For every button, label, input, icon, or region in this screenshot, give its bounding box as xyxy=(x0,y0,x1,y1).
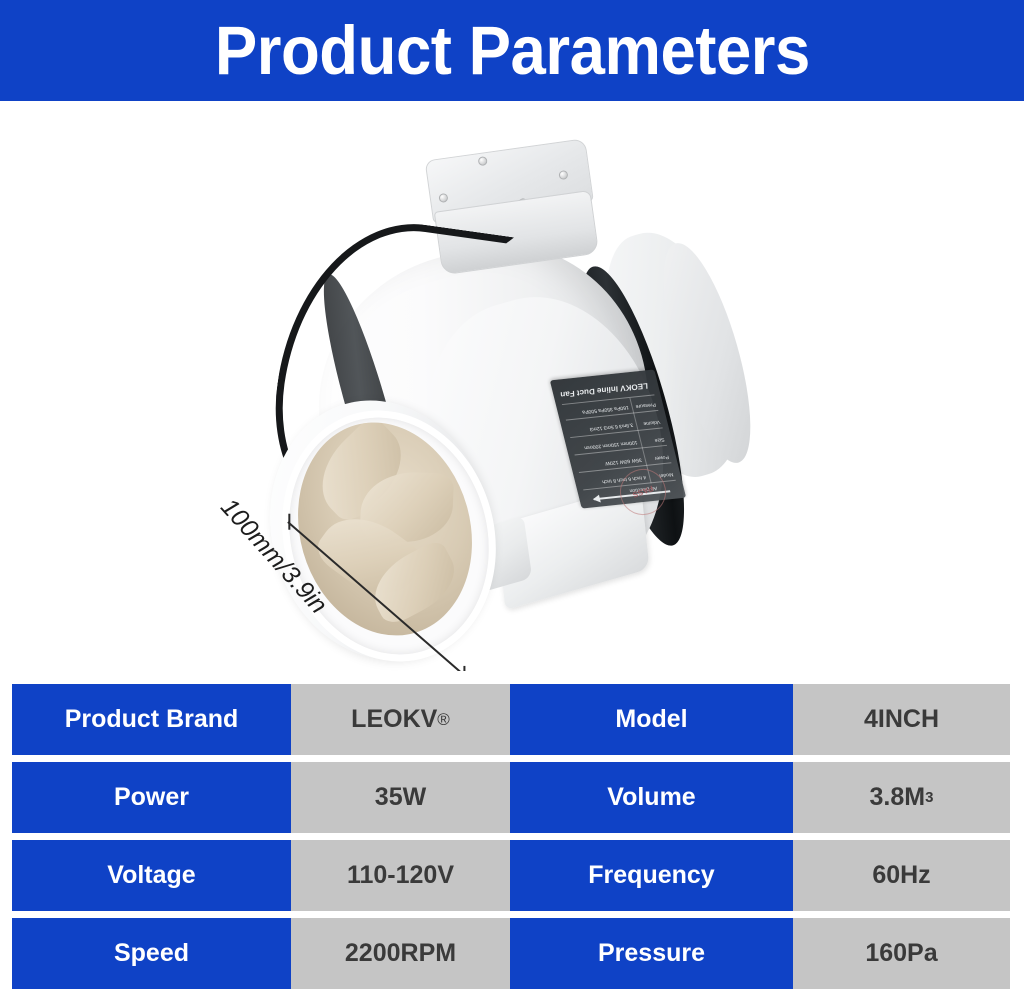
junction-box-screw xyxy=(478,156,488,166)
sticker-row-key: Pressure xyxy=(635,401,657,409)
page-title: Product Parameters xyxy=(214,16,809,85)
spec-label-product-brand: Product Brand xyxy=(12,684,291,755)
table-row: Product Brand LEOKV® Model 4INCH xyxy=(12,684,1010,755)
table-row: Speed 2200RPM Pressure 160Pa xyxy=(12,918,1010,989)
product-photo-area: Air Direction Model 4 Inch 6 Inch 8 Inch… xyxy=(0,101,1024,671)
spec-label-volume: Volume xyxy=(510,762,793,833)
table-row: Voltage 110-120V Frequency 60Hz xyxy=(12,840,1010,911)
table-row: Power 35W Volume 3.8M3 xyxy=(12,762,1010,833)
sticker-row-key: Power xyxy=(654,454,670,461)
spec-value-voltage: 110-120V xyxy=(291,840,510,911)
spec-label-frequency: Frequency xyxy=(510,840,793,911)
spec-value-volume: 3.8M3 xyxy=(793,762,1010,833)
spec-value-speed: 2200RPM xyxy=(291,918,510,989)
spec-label-power: Power xyxy=(12,762,291,833)
spec-label-voltage: Voltage xyxy=(12,840,291,911)
spec-value-frequency: 60Hz xyxy=(793,840,1010,911)
spec-label-pressure: Pressure xyxy=(510,918,793,989)
dimension-tick xyxy=(288,514,290,530)
spec-value-product-brand: LEOKV® xyxy=(291,684,510,755)
inline-duct-fan-illustration: Air Direction Model 4 Inch 6 Inch 8 Inch… xyxy=(0,101,1024,671)
spec-value-model: 4INCH xyxy=(793,684,1010,755)
spec-value-text: LEOKV xyxy=(351,707,437,732)
dimension-tick xyxy=(463,666,465,671)
junction-box-screw xyxy=(558,170,568,180)
spec-label-speed: Speed xyxy=(12,918,291,989)
spec-value-pressure: 160Pa xyxy=(793,918,1010,989)
spec-label-model: Model xyxy=(510,684,793,755)
spec-value-power: 35W xyxy=(291,762,510,833)
page-header-banner: Product Parameters xyxy=(0,0,1024,101)
sticker-row-value: 35W 60W 120W xyxy=(604,457,642,467)
junction-box-screw xyxy=(438,193,448,203)
sticker-row-key: Volume xyxy=(643,419,661,427)
product-parameters-table: Product Brand LEOKV® Model 4INCH Power 3… xyxy=(12,684,1010,989)
spec-value-text: 3.8M xyxy=(870,785,926,810)
sticker-row-key: Size xyxy=(654,436,665,443)
